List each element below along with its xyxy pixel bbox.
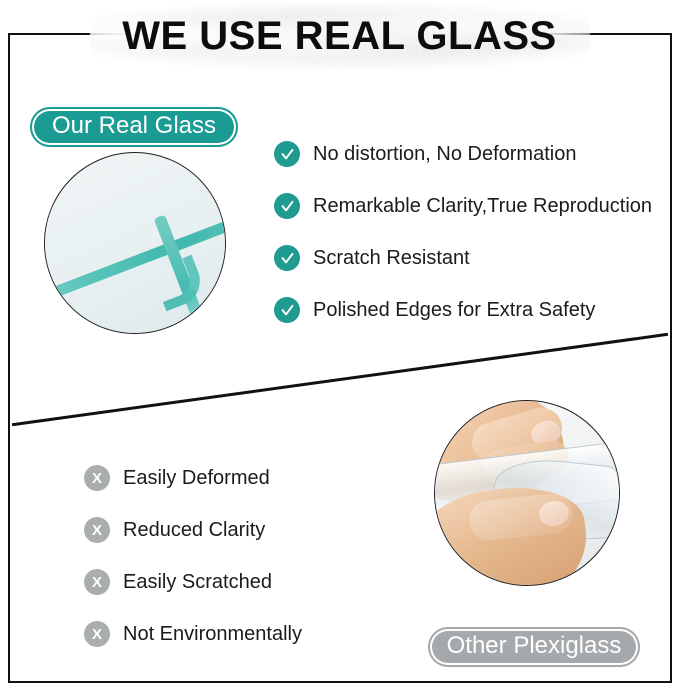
list-item: X Reduced Clarity <box>84 504 302 556</box>
list-item-label: Remarkable Clarity,True Reproduction <box>313 195 652 218</box>
list-item-label: Reduced Clarity <box>123 519 265 542</box>
list-item-label: Not Environmentally <box>123 623 302 646</box>
list-item-label: Easily Deformed <box>123 467 270 490</box>
check-icon <box>274 141 300 167</box>
cross-icon: X <box>84 569 110 595</box>
benefits-list: No distortion, No Deformation Remarkable… <box>274 128 652 336</box>
list-item: Polished Edges for Extra Safety <box>274 284 652 336</box>
cross-icon: X <box>84 621 110 647</box>
badge-our-real-glass-label: Our Real Glass <box>52 112 216 140</box>
badge-other-plexiglass: Other Plexiglass <box>428 627 640 667</box>
check-icon <box>274 297 300 323</box>
cross-icon: X <box>84 517 110 543</box>
page-title: WE USE REAL GLASS <box>0 14 679 59</box>
badge-other-plexiglass-label: Other Plexiglass <box>447 632 622 660</box>
list-item-label: No distortion, No Deformation <box>313 143 576 166</box>
drawbacks-list: X Easily Deformed X Reduced Clarity X Ea… <box>84 452 302 660</box>
check-icon <box>274 193 300 219</box>
frame-border-right <box>670 33 672 683</box>
list-item: X Easily Scratched <box>84 556 302 608</box>
list-item: Scratch Resistant <box>274 232 652 284</box>
list-item-label: Easily Scratched <box>123 571 272 594</box>
list-item: Remarkable Clarity,True Reproduction <box>274 180 652 232</box>
plexiglass-bending-photo <box>434 400 620 586</box>
real-glass-corner-photo <box>44 152 226 334</box>
comparison-infographic: WE USE REAL GLASS Our Real Glass No dist… <box>0 0 679 691</box>
list-item: No distortion, No Deformation <box>274 128 652 180</box>
list-item: X Not Environmentally <box>84 608 302 660</box>
list-item: X Easily Deformed <box>84 452 302 504</box>
list-item-label: Polished Edges for Extra Safety <box>313 299 595 322</box>
badge-our-real-glass: Our Real Glass <box>30 107 238 147</box>
frame-border-bottom <box>8 681 672 683</box>
frame-border-left <box>8 33 10 683</box>
list-item-label: Scratch Resistant <box>313 247 470 270</box>
cross-icon: X <box>84 465 110 491</box>
check-icon <box>274 245 300 271</box>
